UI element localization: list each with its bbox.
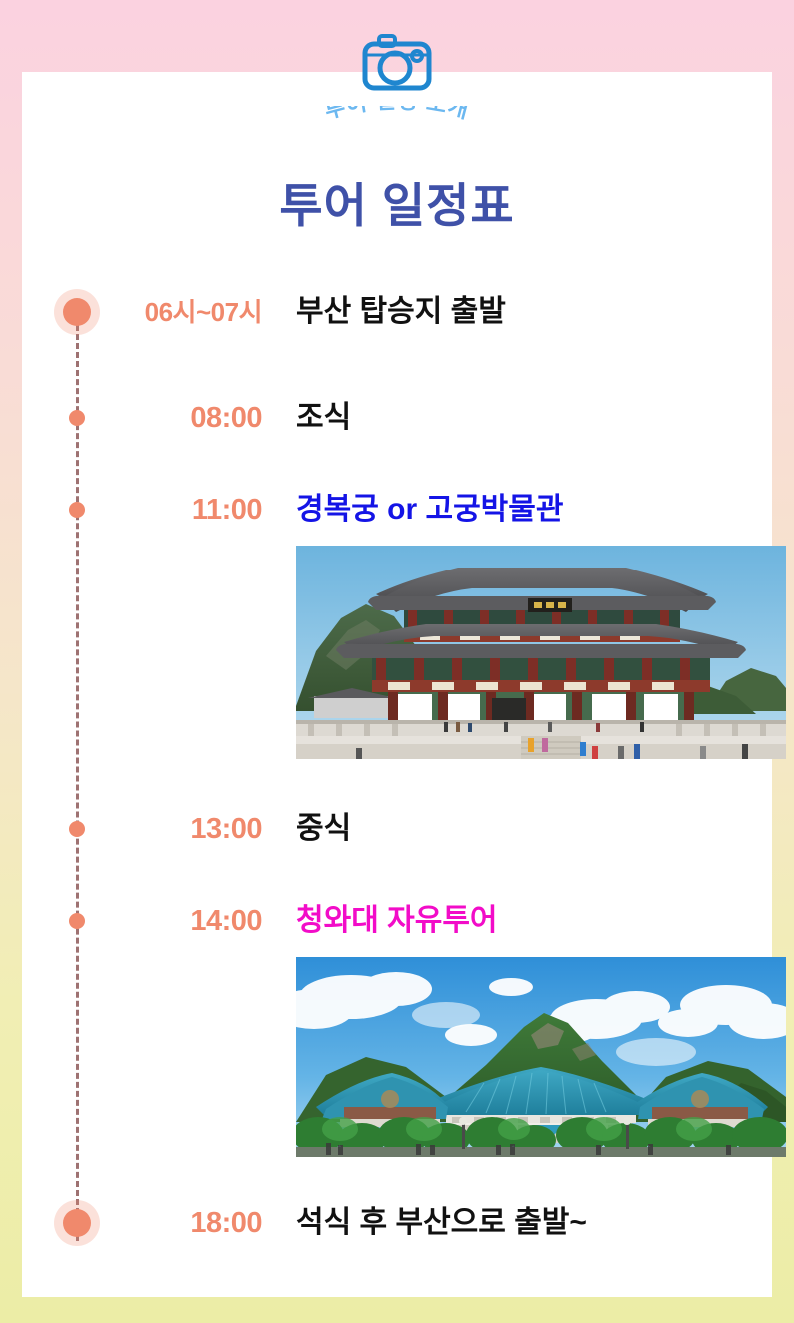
timeline-item[interactable]: 13:00 중식: [22, 807, 772, 851]
poster-frame: 투어 일정 소개 투어 일정표 06시~07시 부산 탑승지 출발 08:00 …: [0, 0, 794, 1323]
timeline-dot-small: [69, 502, 85, 518]
timeline-dot-small: [69, 821, 85, 837]
timeline-marker-cell: [22, 899, 114, 900]
timeline-description: 청와대 자유투어: [296, 899, 786, 943]
page-title: 투어 일정표: [0, 167, 794, 236]
timeline-marker-cell: [22, 488, 114, 489]
timeline-time: 06시~07시: [114, 290, 262, 334]
timeline-time: 11:00: [114, 488, 262, 532]
timeline-dot-large: [63, 1209, 91, 1237]
timeline-description: 석식 후 부산으로 출발~: [262, 1201, 772, 1245]
timeline-dot-small: [69, 410, 85, 426]
timeline-time: 08:00: [114, 396, 262, 440]
timeline-item[interactable]: 14:00 청와대 자유투어: [22, 899, 772, 1157]
timeline-marker-cell: [22, 396, 114, 397]
timeline-item[interactable]: 06시~07시 부산 탑승지 출발: [22, 290, 772, 334]
timeline-time: 13:00: [114, 807, 262, 851]
timeline-marker-cell: [22, 807, 114, 808]
timeline-time: 14:00: [114, 899, 262, 943]
cheongwadae-blue-house-photo: [296, 957, 786, 1157]
timeline-time: 18:00: [114, 1201, 262, 1245]
gyeongbokgung-palace-photo: [296, 546, 786, 759]
timeline-item[interactable]: 18:00 석식 후 부산으로 출발~: [22, 1201, 772, 1245]
timeline-description: 경복궁 or 고궁박물관: [296, 488, 786, 532]
timeline-dot-small: [69, 913, 85, 929]
timeline-item[interactable]: 11:00 경복궁 or 고궁박물관: [22, 488, 772, 759]
subtitle-text: 투어 일정 소개: [322, 106, 472, 123]
subtitle-arc: 투어 일정 소개: [0, 106, 794, 162]
timeline-description: 부산 탑승지 출발: [262, 290, 772, 334]
timeline: 06시~07시 부산 탑승지 출발 08:00 조식 11:00 경복궁 or …: [22, 290, 772, 1245]
svg-text:투어 일정 소개: 투어 일정 소개: [322, 106, 472, 123]
timeline-marker-cell: [22, 1201, 114, 1202]
timeline-description: 중식: [262, 807, 772, 851]
timeline-marker-cell: [22, 290, 114, 291]
timeline-dot-large: [63, 298, 91, 326]
timeline-item[interactable]: 08:00 조식: [22, 396, 772, 440]
camera-icon: [357, 30, 437, 94]
timeline-description: 조식: [262, 396, 772, 440]
